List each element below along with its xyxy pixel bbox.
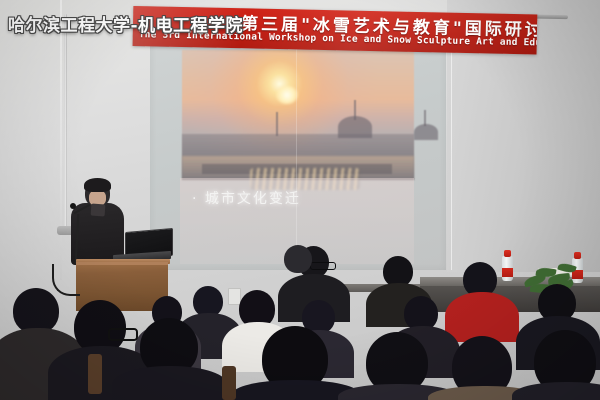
slide-dome <box>414 124 438 140</box>
screen-fold <box>296 38 297 270</box>
slide-spire <box>354 100 356 120</box>
chair-back <box>88 354 102 394</box>
chair-back <box>222 366 236 400</box>
watermark-text: 哈尔滨工程大学-机电工程学院 <box>8 11 243 36</box>
water-bottle-icon <box>502 250 513 281</box>
speaker-collar <box>91 204 106 217</box>
slide-spire <box>424 110 426 126</box>
wall-conduit-pipe <box>64 14 67 234</box>
wall-seam-left <box>60 0 62 280</box>
speaker-hair <box>84 178 111 192</box>
microphone-head <box>70 203 76 209</box>
projection-screen: · 城市文化变迁 <box>150 38 446 270</box>
photograph-lecture-hall: · 城市文化变迁 第三届"冰雪艺术与教育"国际研讨会 The 3rd Inter… <box>0 0 600 400</box>
wall-seam <box>451 30 452 270</box>
slide-spire <box>276 112 278 136</box>
slide-sun <box>276 86 298 104</box>
slide-bullet-text: · 城市文化变迁 <box>192 188 301 208</box>
